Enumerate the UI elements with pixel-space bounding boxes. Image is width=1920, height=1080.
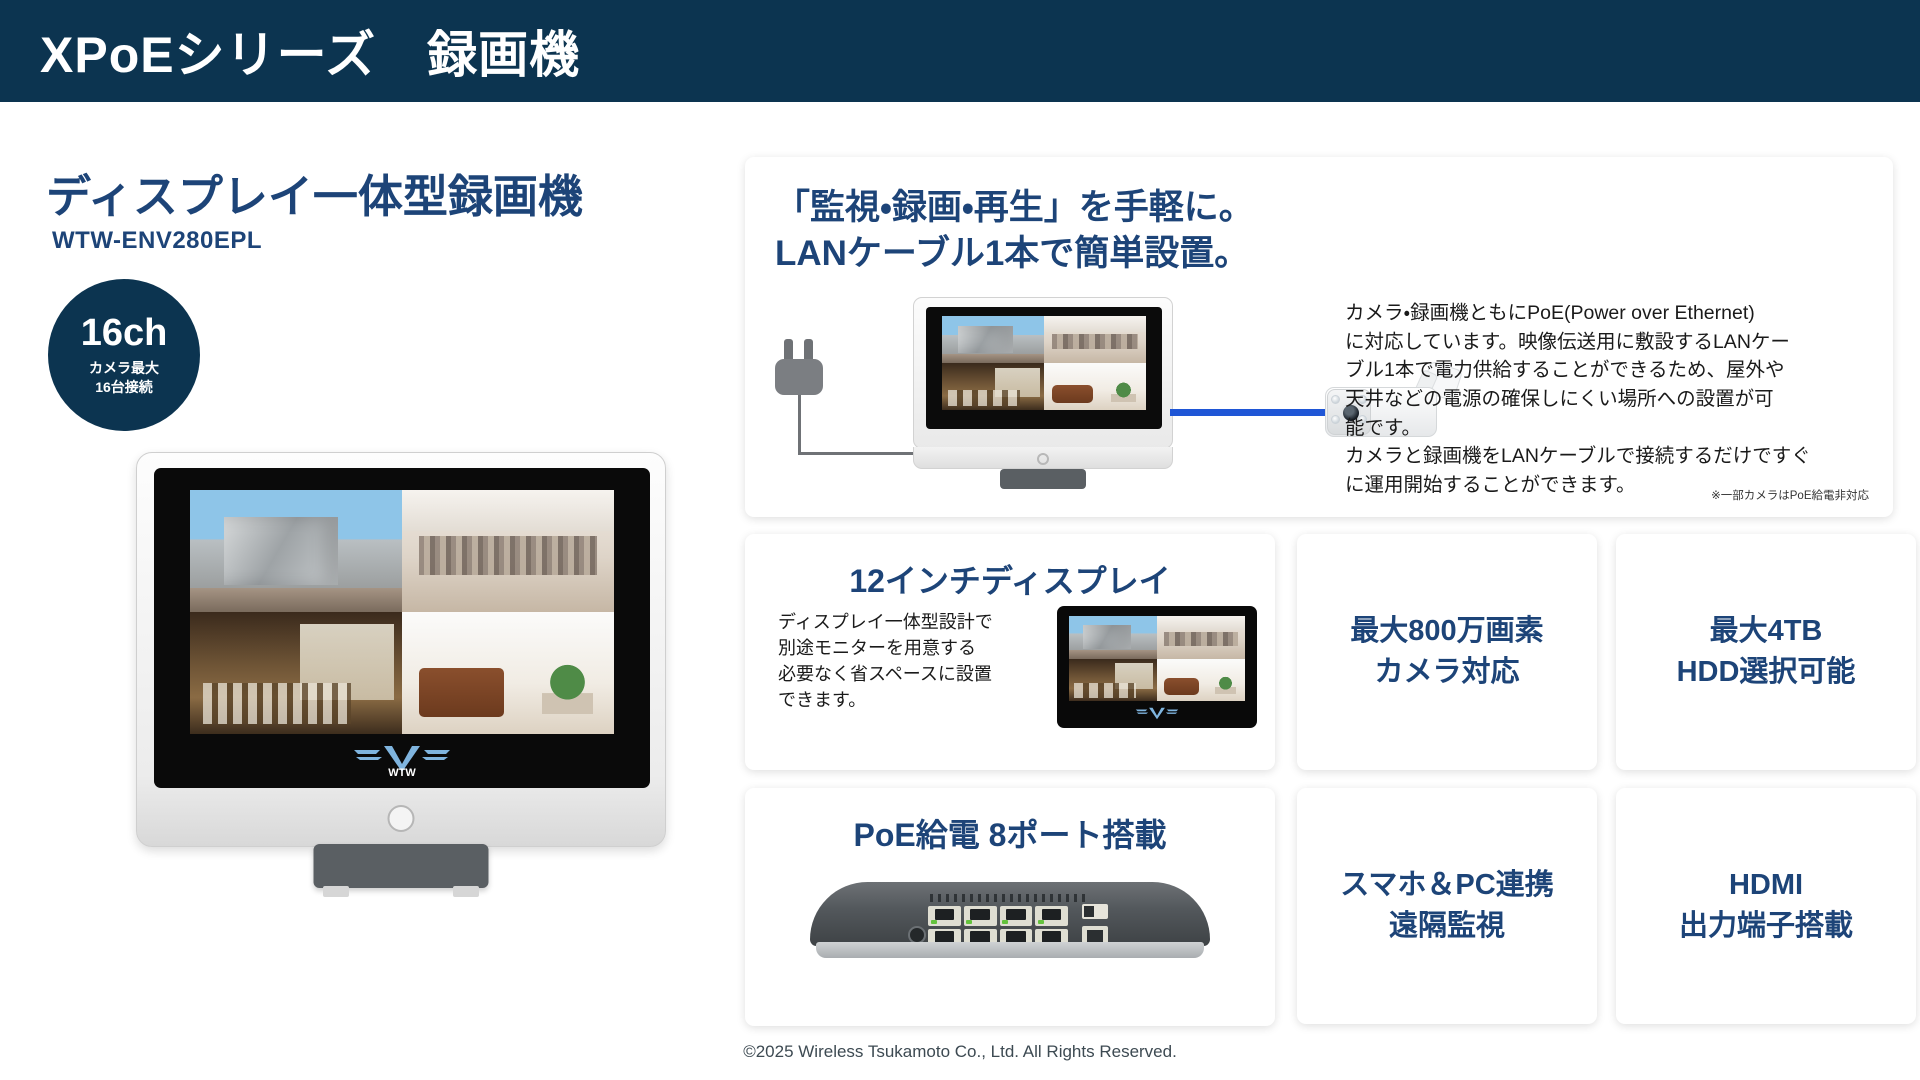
monitor-bezel: WTW bbox=[154, 468, 650, 788]
quad-pane-shop bbox=[402, 612, 614, 734]
rj45-port bbox=[1035, 906, 1068, 926]
chassis-base bbox=[816, 942, 1204, 958]
rj45-port bbox=[1000, 906, 1033, 926]
display-body-line-2: 別途モニターを用意する bbox=[778, 636, 1046, 662]
hero-title: 「監視・録画・再生」を手軽に。 LANケーブル1本で簡単設置。 bbox=[775, 185, 1254, 277]
badge-channel-count: 16ch bbox=[81, 314, 168, 352]
header-title: XPoEシリーズ 録画機 bbox=[40, 15, 580, 87]
product-model-number: WTW-ENV280EPL bbox=[52, 227, 262, 255]
rj45-port bbox=[964, 906, 997, 926]
datasheet-page: XPoEシリーズ 録画機 ディスプレイ一体型録画機 WTW-ENV280EPL … bbox=[0, 0, 1920, 1080]
feature-card-hdmi-output: HDMI 出力端子搭載 bbox=[1616, 788, 1916, 1024]
monitor-stand bbox=[313, 844, 488, 888]
display-feature-card: 12インチディスプレイ ディスプレイ一体型設計で 別途モニターを用意する 必要な… bbox=[745, 534, 1275, 770]
quad-pane-store bbox=[402, 490, 614, 612]
stand-foot-left bbox=[323, 886, 349, 897]
display-card-title: 12インチディスプレイ bbox=[745, 556, 1275, 602]
hero-title-line-2: LANケーブル1本で簡単設置。 bbox=[775, 231, 1254, 277]
page-header: XPoEシリーズ 録画機 bbox=[0, 0, 1920, 102]
product-title: ディスプレイ一体型録画機 bbox=[46, 160, 583, 225]
hero-body-line-5: 能です。 bbox=[1345, 414, 1873, 443]
diagram-monitor-stand bbox=[1000, 469, 1086, 489]
footer-copyright: ©2025 Wireless Tsukamoto Co., Ltd. All R… bbox=[0, 1042, 1920, 1062]
hero-body-line-4: 天井などの電源の確保しにくい場所への設置が可 bbox=[1345, 385, 1873, 414]
diagram-power-button-icon bbox=[1037, 453, 1049, 465]
badge-sub-line-2: 16台接続 bbox=[89, 378, 159, 397]
power-button-icon bbox=[388, 805, 415, 832]
monitor-chassis: WTW bbox=[136, 452, 666, 847]
feature-label: スマホ＆PC連携 遠隔監視 bbox=[1340, 865, 1553, 947]
badge-sub-line-1: カメラ最大 bbox=[89, 359, 159, 378]
product-photo: WTW bbox=[128, 452, 673, 962]
quad-pane-restaurant bbox=[190, 612, 402, 734]
display-card-body: ディスプレイ一体型設計で 別途モニターを用意する 必要なく省スペースに設置 でき… bbox=[778, 610, 1046, 714]
hero-title-line-1: 「監視・録画・再生」を手軽に。 bbox=[775, 185, 1254, 231]
hero-body-line-2: に対応しています。映像伝送用に敷設するLANケー bbox=[1345, 328, 1873, 357]
poe-connection-diagram bbox=[765, 285, 1325, 490]
recorder-rear-panel-image bbox=[810, 876, 1210, 976]
hero-body-line-6: カメラと録画機をLANケーブルで接続するだけですぐ bbox=[1345, 442, 1873, 471]
display-body-line-3: 必要なく省スペースに設置 bbox=[778, 662, 1046, 688]
feature-card-max-hdd: 最大4TB HDD選択可能 bbox=[1616, 534, 1916, 770]
poe-card-title: PoE給電 8ポート搭載 bbox=[745, 810, 1275, 856]
display-body-line-1: ディスプレイ一体型設計で bbox=[778, 610, 1046, 636]
channel-count-badge: 16ch カメラ最大 16台接続 bbox=[48, 279, 200, 431]
power-cord bbox=[798, 395, 801, 455]
hero-body-line-3: ブル1本で電力供給することができるため、屋外や bbox=[1345, 356, 1873, 385]
quad-pane-house bbox=[190, 490, 402, 612]
rj45-port bbox=[928, 906, 961, 926]
feature-label: 最大4TB HDD選択可能 bbox=[1677, 611, 1856, 693]
feature-card-remote-monitor: スマホ＆PC連携 遠隔監視 bbox=[1297, 788, 1597, 1024]
hero-body-line-1: カメラ・録画機ともにPoE(Power over Ethernet) bbox=[1345, 299, 1873, 328]
display-card-image bbox=[1057, 606, 1257, 741]
feature-label: 最大800万画素 カメラ対応 bbox=[1350, 611, 1543, 693]
display-card-quad-view bbox=[1069, 616, 1245, 701]
vent-grille bbox=[930, 894, 1090, 902]
power-cord-horizontal bbox=[798, 452, 918, 455]
left-column: ディスプレイ一体型録画機 WTW-ENV280EPL 16ch カメラ最大 16… bbox=[0, 102, 740, 1080]
hero-body-text: カメラ・録画機ともにPoE(Power over Ethernet) に対応して… bbox=[1345, 299, 1873, 500]
quad-view-preview bbox=[190, 490, 614, 734]
feature-label: HDMI 出力端子搭載 bbox=[1679, 865, 1853, 947]
hero-card: 「監視・録画・再生」を手軽に。 LANケーブル1本で簡単設置。 bbox=[745, 157, 1893, 517]
feature-card-max-resolution: 最大800万画素 カメラ対応 bbox=[1297, 534, 1597, 770]
stand-foot-right bbox=[453, 886, 479, 897]
diagram-recorder bbox=[913, 297, 1173, 479]
hero-footnote: ※一部カメラはPoE給電非対応 bbox=[1711, 487, 1869, 503]
power-switch-icon bbox=[1082, 904, 1108, 919]
svg-text:WTW: WTW bbox=[388, 767, 416, 778]
wtw-logo-icon: WTW bbox=[350, 738, 454, 778]
wtw-logo-icon-small bbox=[1134, 704, 1180, 722]
diagram-quad-view bbox=[942, 316, 1146, 410]
right-column: 「監視・録画・再生」を手軽に。 LANケーブル1本で簡単設置。 bbox=[740, 102, 1920, 1080]
poe-port-card: PoE給電 8ポート搭載 bbox=[745, 788, 1275, 1026]
display-body-line-4: できます。 bbox=[778, 688, 1046, 714]
